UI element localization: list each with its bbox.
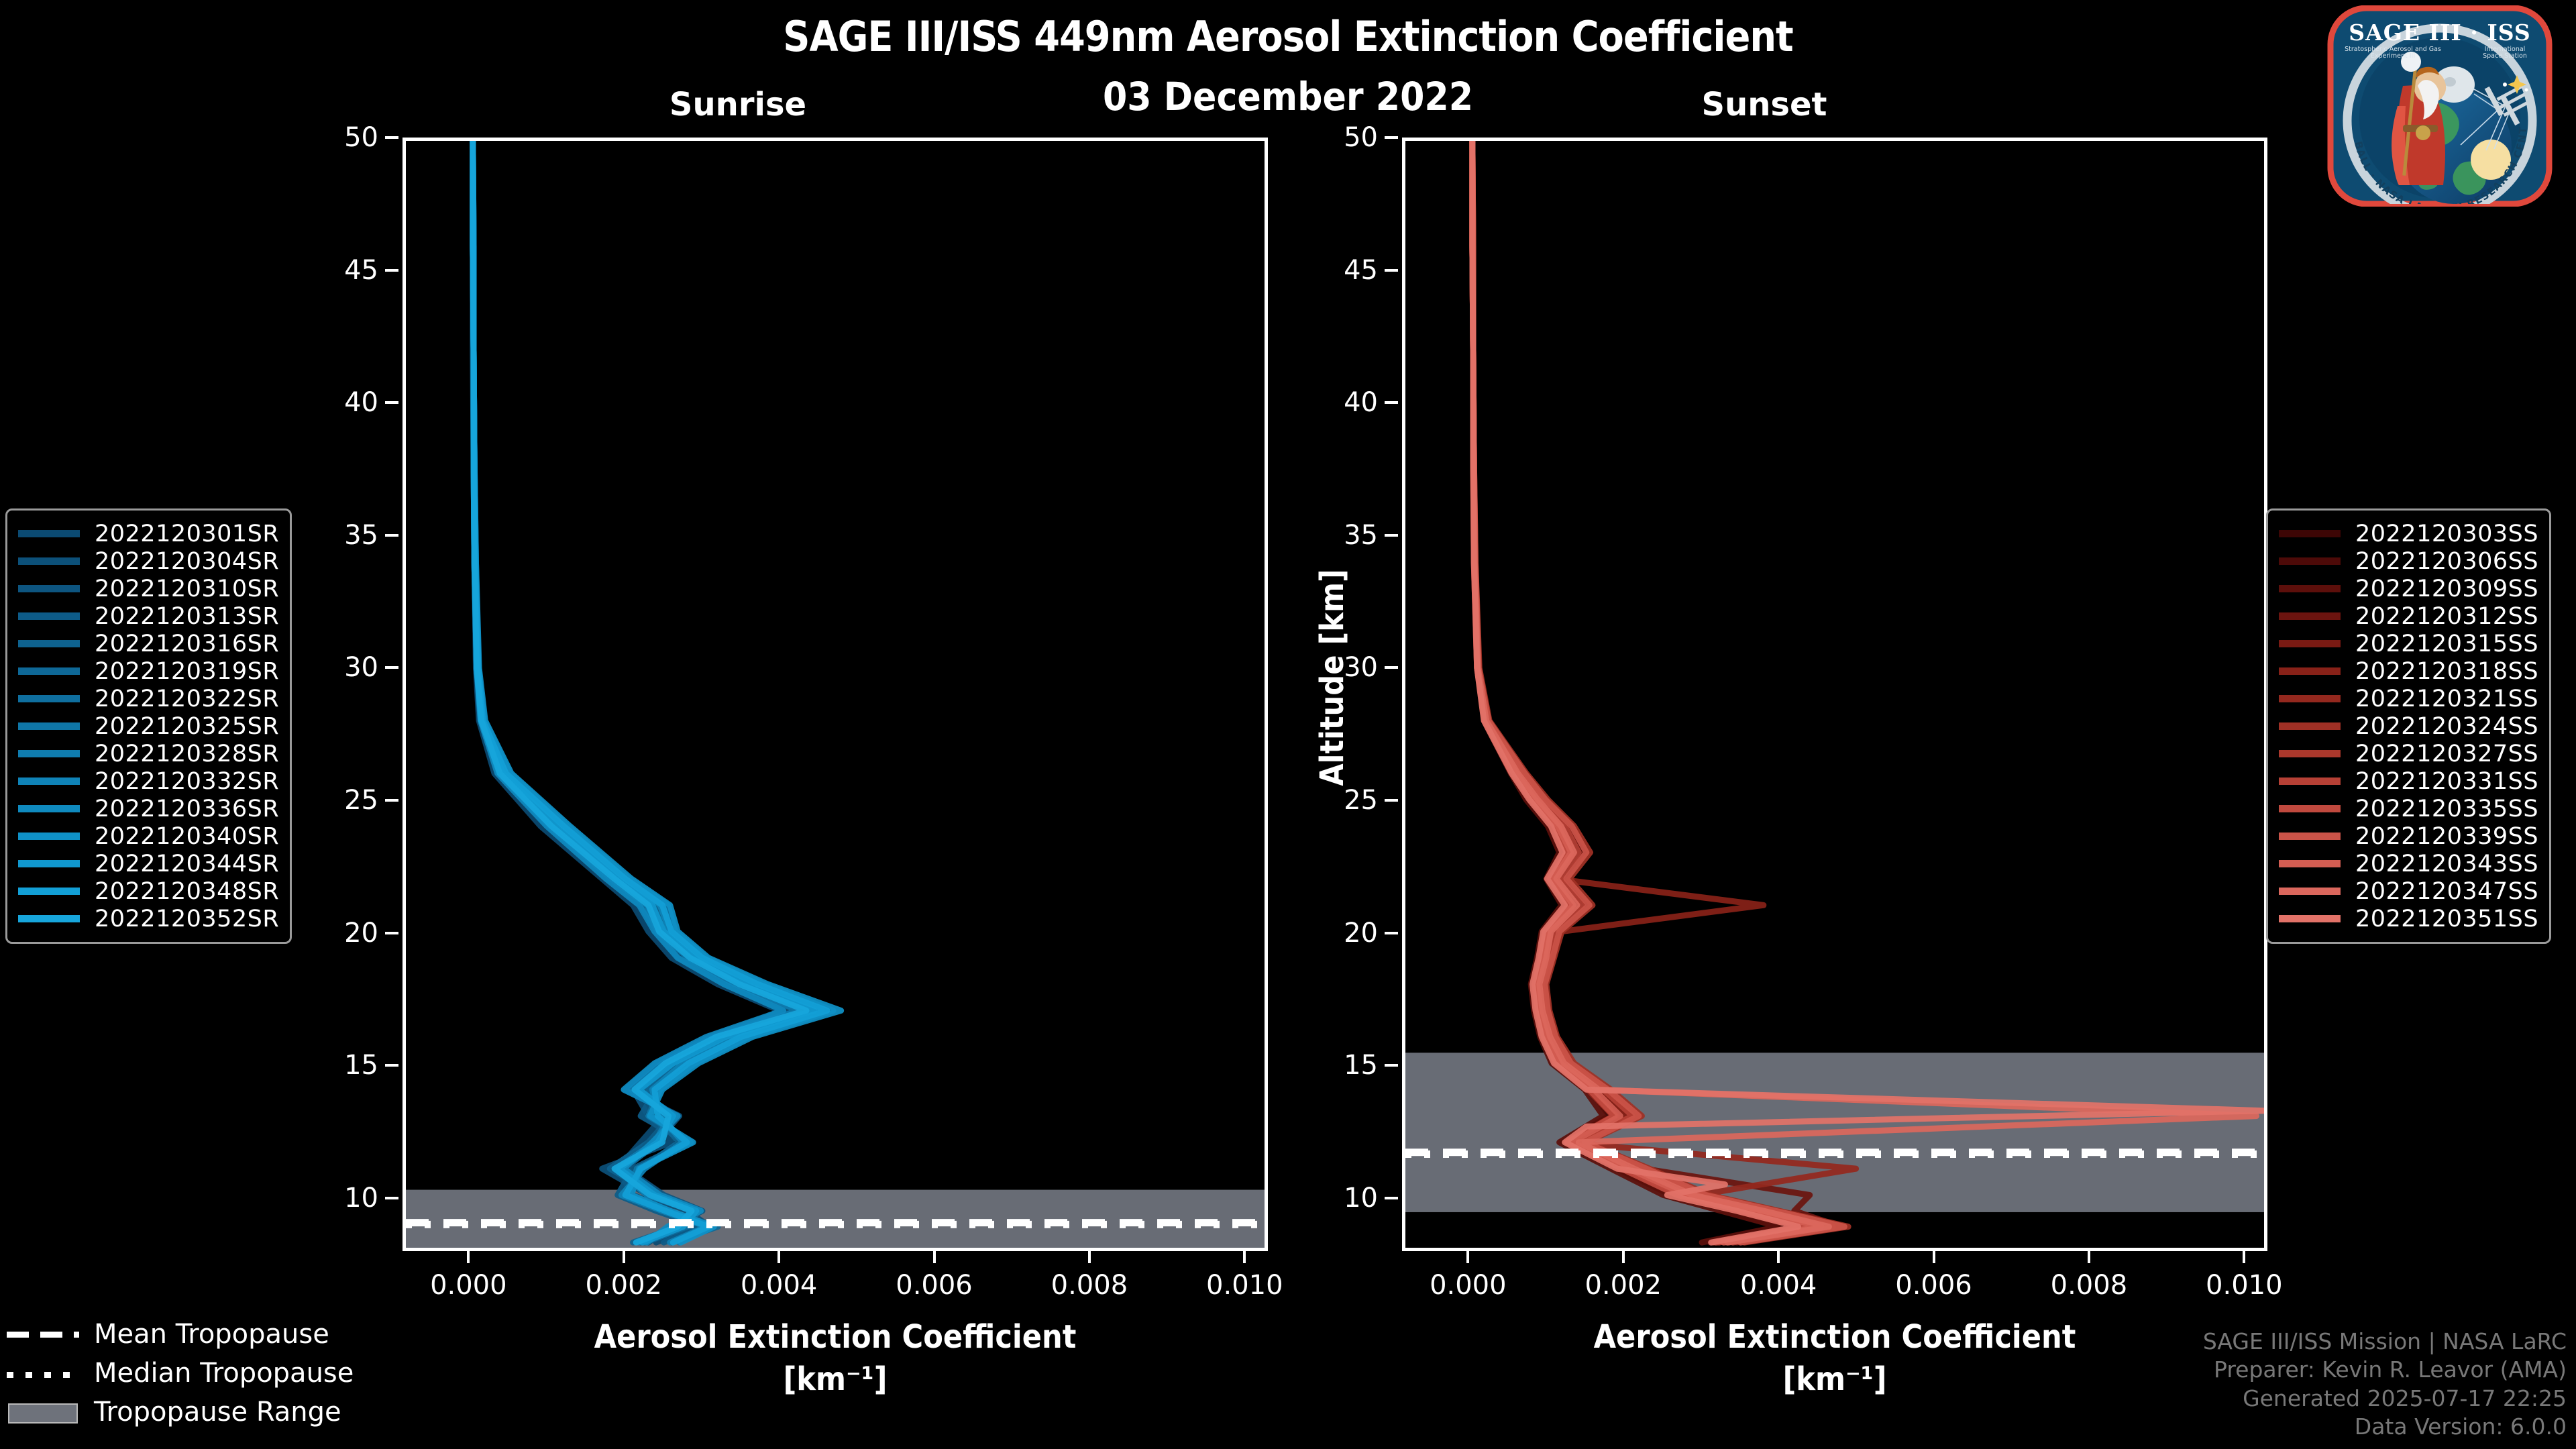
y-axis-tick-mark — [1385, 1197, 1398, 1199]
legend-item-label: 2022120306SS — [2355, 548, 2538, 575]
legend-item-label: 2022120303SS — [2355, 521, 2538, 547]
y-axis-tick-mark — [1385, 799, 1398, 802]
legend-item[interactable]: 2022120301SR — [18, 520, 279, 547]
legend-color-swatch — [18, 695, 80, 702]
legend-color-swatch — [2279, 612, 2341, 620]
sunrise-xaxis-units: [km⁻¹] — [402, 1360, 1268, 1398]
y-axis-tick-mark — [1385, 401, 1398, 404]
legend-color-swatch — [2279, 640, 2341, 647]
legend-color-swatch — [18, 888, 80, 895]
legend-item[interactable]: 2022120335SS — [2279, 795, 2538, 822]
y-axis-tick-label: 50 — [305, 122, 378, 153]
y-axis-tick-label: 30 — [305, 652, 378, 683]
x-axis-tick-label: 0.008 — [2051, 1270, 2128, 1301]
sunrise-legend[interactable]: 2022120301SR2022120304SR2022120310SR2022… — [5, 508, 292, 944]
y-axis-tick-label: 50 — [1304, 122, 1378, 153]
legend-item[interactable]: 2022120332SR — [18, 767, 279, 795]
sunrise-x-axis: 0.0000.0020.0040.0060.0080.010 — [402, 1251, 1268, 1318]
sunset-yaxis-title: Altitude [km] — [1313, 569, 1351, 786]
y-axis-tick-mark — [1385, 666, 1398, 669]
legend-label-median-tropopause: Median Tropopause — [94, 1358, 354, 1389]
y-axis-tick-label: 20 — [305, 918, 378, 949]
legend-item[interactable]: 2022120327SS — [2279, 740, 2538, 767]
legend-item[interactable]: 2022120303SS — [2279, 520, 2538, 547]
legend-item[interactable]: 2022120340SR — [18, 822, 279, 850]
x-axis-tick-mark — [933, 1251, 936, 1263]
legend-color-swatch — [18, 585, 80, 592]
legend-item-label: 2022120327SS — [2355, 741, 2538, 767]
legend-item-label: 2022120310SR — [95, 576, 279, 602]
svg-text:Experiment III: Experiment III — [2371, 52, 2415, 60]
legend-item[interactable]: 2022120351SS — [2279, 905, 2538, 932]
legend-item-label: 2022120352SR — [95, 906, 279, 932]
x-axis-tick-mark — [467, 1251, 470, 1263]
x-axis-tick-mark — [1088, 1251, 1091, 1263]
legend-color-swatch — [18, 750, 80, 757]
legend-color-swatch — [18, 557, 80, 565]
legend-label-tropopause-range: Tropopause Range — [94, 1397, 341, 1428]
y-axis-tick-label: 45 — [1304, 255, 1378, 286]
x-axis-tick-mark — [1243, 1251, 1246, 1263]
x-axis-tick-label: 0.010 — [2206, 1270, 2283, 1301]
legend-item-label: 2022120336SR — [95, 796, 279, 822]
y-axis-tick-label: 25 — [305, 785, 378, 816]
legend-item-label: 2022120318SS — [2355, 658, 2538, 685]
y-axis-tick-mark — [385, 136, 398, 139]
x-axis-tick-label: 0.006 — [896, 1270, 973, 1301]
legend-item[interactable]: 2022120316SR — [18, 630, 279, 657]
legend-item-label: 2022120324SS — [2355, 713, 2538, 740]
legend-item[interactable]: 2022120339SS — [2279, 822, 2538, 850]
legend-item[interactable]: 2022120348SR — [18, 877, 279, 905]
dotted-line-icon — [7, 1363, 79, 1383]
x-axis-tick-mark — [623, 1251, 625, 1263]
y-axis-tick-mark — [385, 1064, 398, 1067]
legend-item-label: 2022120348SR — [95, 878, 279, 905]
legend-item-mean-tropopause: Mean Tropopause — [7, 1315, 354, 1354]
legend-item-label: 2022120340SR — [95, 823, 279, 850]
legend-item-label: 2022120316SR — [95, 631, 279, 657]
x-axis-tick-label: 0.002 — [585, 1270, 662, 1301]
sunrise-profile-svg — [406, 141, 1265, 1248]
legend-item[interactable]: 2022120347SS — [2279, 877, 2538, 905]
y-axis-tick-label: 10 — [305, 1183, 378, 1214]
sunset-x-axis: 0.0000.0020.0040.0060.0080.010 — [1402, 1251, 2267, 1318]
legend-item[interactable]: 2022120309SS — [2279, 575, 2538, 602]
legend-item-label: 2022120343SS — [2355, 851, 2538, 877]
legend-item[interactable]: 2022120325SR — [18, 712, 279, 740]
legend-color-swatch — [2279, 777, 2341, 785]
x-axis-tick-label: 0.000 — [1430, 1270, 1507, 1301]
sunset-plot-panel[interactable] — [1402, 138, 2267, 1251]
legend-color-swatch — [18, 860, 80, 867]
credits-block: SAGE III/ISS Mission | NASA LaRC Prepare… — [2203, 1328, 2567, 1441]
y-axis-tick-label: 35 — [1304, 520, 1378, 551]
x-axis-tick-mark — [1622, 1251, 1625, 1263]
legend-color-swatch — [2279, 750, 2341, 757]
legend-color-swatch — [18, 612, 80, 620]
legend-item[interactable]: 2022120310SR — [18, 575, 279, 602]
legend-item[interactable]: 2022120304SR — [18, 547, 279, 575]
y-axis-tick-mark — [385, 932, 398, 934]
legend-color-swatch — [18, 833, 80, 840]
legend-item-label: 2022120319SR — [95, 658, 279, 685]
y-axis-tick-mark — [385, 666, 398, 669]
x-axis-tick-mark — [2243, 1251, 2245, 1263]
y-axis-tick-label: 20 — [1304, 918, 1378, 949]
sunset-panel-title: Sunset — [1630, 86, 1898, 123]
legend-item-label: 2022120328SR — [95, 741, 279, 767]
y-axis-tick-mark — [385, 1197, 398, 1199]
legend-item[interactable]: 2022120352SR — [18, 905, 279, 932]
sunrise-y-axis: 101520253035404550 — [315, 138, 402, 1251]
sunrise-plot-panel[interactable] — [402, 138, 1268, 1251]
legend-color-swatch — [2279, 833, 2341, 840]
legend-color-swatch — [2279, 888, 2341, 895]
legend-item-label: 2022120322SR — [95, 686, 279, 712]
sunset-legend[interactable]: 2022120303SS2022120306SS2022120309SS2022… — [2266, 508, 2551, 944]
x-axis-tick-label: 0.000 — [430, 1270, 507, 1301]
legend-item[interactable]: 2022120315SS — [2279, 630, 2538, 657]
x-axis-tick-label: 0.002 — [1585, 1270, 1662, 1301]
legend-color-swatch — [2279, 667, 2341, 675]
legend-color-swatch — [18, 805, 80, 812]
filled-band-icon — [7, 1402, 79, 1422]
y-axis-tick-mark — [385, 401, 398, 404]
svg-text:SAGE III · ISS: SAGE III · ISS — [2349, 19, 2530, 46]
legend-item[interactable]: 2022120318SS — [2279, 657, 2538, 685]
x-axis-tick-label: 0.006 — [1895, 1270, 1972, 1301]
sunrise-xaxis-title: Aerosol Extinction Coefficient — [402, 1318, 1268, 1356]
legend-item-label: 2022120304SR — [95, 548, 279, 575]
sunset-profile-svg — [1405, 141, 2264, 1248]
date-subtitle: 03 December 2022 — [0, 74, 2576, 119]
sunset-xaxis-title: Aerosol Extinction Coefficient — [1402, 1318, 2267, 1356]
x-axis-tick-label: 0.004 — [1740, 1270, 1817, 1301]
legend-item-tropopause-range: Tropopause Range — [7, 1393, 354, 1432]
legend-item[interactable]: 2022120322SR — [18, 685, 279, 712]
x-axis-tick-mark — [1466, 1251, 1469, 1263]
legend-color-swatch — [2279, 722, 2341, 730]
legend-item-label: 2022120321SS — [2355, 686, 2538, 712]
legend-label-mean-tropopause: Mean Tropopause — [94, 1319, 329, 1350]
legend-item-label: 2022120351SS — [2355, 906, 2538, 932]
legend-item-label: 2022120331SS — [2355, 768, 2538, 795]
y-axis-tick-label: 45 — [305, 255, 378, 286]
legend-color-swatch — [18, 530, 80, 537]
legend-item[interactable]: 2022120313SR — [18, 602, 279, 630]
legend-item[interactable]: 2022120343SS — [2279, 850, 2538, 877]
legend-item-label: 2022120309SS — [2355, 576, 2538, 602]
legend-item-label: 2022120344SR — [95, 851, 279, 877]
x-axis-tick-label: 0.008 — [1051, 1270, 1128, 1301]
y-axis-tick-label: 40 — [305, 387, 378, 418]
x-axis-tick-mark — [777, 1251, 780, 1263]
legend-color-swatch — [18, 915, 80, 922]
credit-data-version: Data Version: 6.0.0 — [2203, 1413, 2567, 1441]
legend-color-swatch — [18, 640, 80, 647]
legend-item-label: 2022120332SR — [95, 768, 279, 795]
legend-color-swatch — [18, 722, 80, 730]
legend-color-swatch — [2279, 557, 2341, 565]
legend-item-label: 2022120325SR — [95, 713, 279, 740]
y-axis-tick-mark — [1385, 1064, 1398, 1067]
y-axis-tick-label: 25 — [1304, 785, 1378, 816]
sunset-plot-area — [1405, 141, 2264, 1248]
svg-text:Space Station: Space Station — [2483, 52, 2527, 60]
x-axis-tick-label: 0.004 — [741, 1270, 818, 1301]
y-axis-tick-mark — [385, 269, 398, 272]
y-axis-tick-mark — [1385, 136, 1398, 139]
legend-item-label: 2022120347SS — [2355, 878, 2538, 905]
legend-color-swatch — [18, 667, 80, 675]
y-axis-tick-mark — [385, 534, 398, 537]
page-title: SAGE III/ISS 449nm Aerosol Extinction Co… — [0, 12, 2576, 61]
legend-item[interactable]: 2022120328SR — [18, 740, 279, 767]
credit-generated: Generated 2025-07-17 22:25 — [2203, 1385, 2567, 1413]
legend-item[interactable]: 2022120321SS — [2279, 685, 2538, 712]
sunrise-panel-title: Sunrise — [604, 86, 872, 123]
legend-item-label: 2022120312SS — [2355, 603, 2538, 630]
sunrise-plot-area — [406, 141, 1265, 1248]
sage-iii-iss-mission-patch-logo: SAGE III · ISS Stratospheric Aerosol and… — [2322, 5, 2557, 207]
legend-color-swatch — [2279, 805, 2341, 812]
y-axis-tick-mark — [1385, 932, 1398, 934]
x-axis-tick-mark — [1777, 1251, 1780, 1263]
y-axis-tick-mark — [1385, 269, 1398, 272]
x-axis-tick-mark — [1933, 1251, 1935, 1263]
y-axis-tick-label: 15 — [1304, 1050, 1378, 1081]
legend-item[interactable]: 2022120312SS — [2279, 602, 2538, 630]
x-axis-tick-mark — [2088, 1251, 2090, 1263]
legend-item[interactable]: 2022120331SS — [2279, 767, 2538, 795]
legend-color-swatch — [2279, 530, 2341, 537]
legend-item-label: 2022120301SR — [95, 521, 279, 547]
credit-mission: SAGE III/ISS Mission | NASA LaRC — [2203, 1328, 2567, 1356]
legend-item[interactable]: 2022120324SS — [2279, 712, 2538, 740]
legend-item[interactable]: 2022120336SR — [18, 795, 279, 822]
y-axis-tick-mark — [385, 799, 398, 802]
profile-line — [473, 141, 784, 1242]
y-axis-tick-label: 10 — [1304, 1183, 1378, 1214]
profile-line — [473, 141, 780, 1242]
y-axis-tick-label: 15 — [305, 1050, 378, 1081]
legend-color-swatch — [2279, 860, 2341, 867]
tropopause-legend: Mean Tropopause Median Tropopause Tropop… — [7, 1315, 354, 1432]
legend-item-median-tropopause: Median Tropopause — [7, 1354, 354, 1393]
legend-item[interactable]: 2022120306SS — [2279, 547, 2538, 575]
credit-preparer: Preparer: Kevin R. Leavor (AMA) — [2203, 1356, 2567, 1384]
sunset-xaxis-units: [km⁻¹] — [1402, 1360, 2267, 1398]
dashed-line-icon — [7, 1324, 79, 1344]
profile-line — [473, 141, 787, 1242]
tropopause-range-band — [406, 1190, 1265, 1248]
legend-item-label: 2022120335SS — [2355, 796, 2538, 822]
x-axis-tick-label: 0.010 — [1206, 1270, 1283, 1301]
legend-item-label: 2022120313SR — [95, 603, 279, 630]
legend-item-label: 2022120315SS — [2355, 631, 2538, 657]
legend-item-label: 2022120339SS — [2355, 823, 2538, 850]
y-axis-tick-mark — [1385, 534, 1398, 537]
y-axis-tick-label: 35 — [305, 520, 378, 551]
legend-color-swatch — [2279, 695, 2341, 702]
legend-color-swatch — [2279, 585, 2341, 592]
y-axis-tick-label: 40 — [1304, 387, 1378, 418]
legend-color-swatch — [2279, 915, 2341, 922]
legend-item[interactable]: 2022120319SR — [18, 657, 279, 685]
legend-color-swatch — [18, 777, 80, 785]
legend-item[interactable]: 2022120344SR — [18, 850, 279, 877]
